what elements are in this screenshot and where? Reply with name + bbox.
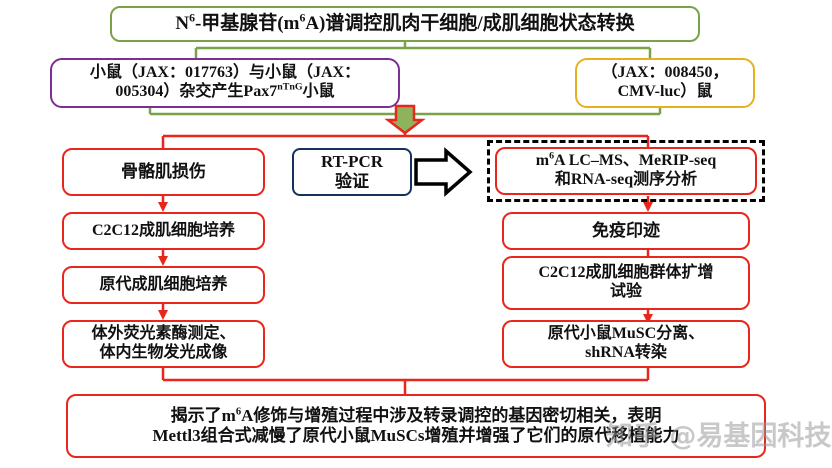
primary-myoblast-culture-text: 原代成肌细胞培养 bbox=[64, 276, 263, 295]
rt-pcr-text: RT-PCR 验证 bbox=[294, 152, 410, 192]
convergence-connector bbox=[163, 368, 648, 394]
skeletal-muscle-injury-box: 骨骼肌损伤 bbox=[62, 148, 265, 196]
rt-pcr-box: RT-PCR 验证 bbox=[292, 148, 412, 196]
conclusion-box: 揭示了m6A修饰与增殖过程中涉及转录调控的基因密切相关，表明 Mettl3组合式… bbox=[66, 394, 766, 458]
cmv-luc-text: （JAX：008450， CMV-luc）鼠 bbox=[577, 64, 753, 102]
skeletal-muscle-injury-text: 骨骼肌损伤 bbox=[64, 162, 263, 182]
pax7-superscript: nTnG bbox=[277, 82, 302, 93]
primary-myoblast-culture-box: 原代成肌细胞培养 bbox=[62, 266, 265, 304]
sequencing-analysis-box: m6A LC–MS、MeRIP-seq 和RNA-seq测序分析 bbox=[495, 147, 757, 195]
title-text: N6-甲基腺苷(m6A)谱调控肌肉干细胞/成肌细胞状态转换 bbox=[112, 13, 698, 35]
flowchart-canvas: N6-甲基腺苷(m6A)谱调控肌肉干细胞/成肌细胞状态转换 小鼠（JAX：017… bbox=[0, 0, 832, 468]
western-blot-box: 免疫印迹 bbox=[502, 212, 750, 250]
musc-isolation-box: 原代小鼠MuSC分离、 shRNA转染 bbox=[502, 320, 750, 368]
cmv-luc-box: （JAX：008450， CMV-luc）鼠 bbox=[575, 58, 755, 108]
c2c12-culture-box: C2C12成肌细胞培养 bbox=[62, 212, 265, 250]
sequencing-analysis-text: m6A LC–MS、MeRIP-seq 和RNA-seq测序分析 bbox=[497, 152, 755, 190]
c2c12-expansion-text: C2C12成肌细胞群体扩增 试验 bbox=[504, 264, 748, 302]
musc-isolation-text: 原代小鼠MuSC分离、 shRNA转染 bbox=[504, 325, 748, 363]
c2c12-culture-text: C2C12成肌细胞培养 bbox=[64, 222, 263, 241]
c2c12-expansion-box: C2C12成肌细胞群体扩增 试验 bbox=[502, 256, 750, 310]
luciferase-imaging-box: 体外荧光素酶测定、 体内生物发光成像 bbox=[62, 320, 265, 368]
mouse-cross-box: 小鼠（JAX：017763）与小鼠（JAX： 005304）杂交产生Pax7nT… bbox=[50, 58, 400, 108]
conclusion-text: 揭示了m6A修饰与增殖过程中涉及转录调控的基因密切相关，表明 Mettl3组合式… bbox=[68, 406, 764, 446]
title-box: N6-甲基腺苷(m6A)谱调控肌肉干细胞/成肌细胞状态转换 bbox=[110, 6, 700, 42]
mouse-cross-text: 小鼠（JAX：017763）与小鼠（JAX： 005304）杂交产生Pax7nT… bbox=[52, 64, 398, 102]
luciferase-imaging-text: 体外荧光素酶测定、 体内生物发光成像 bbox=[64, 325, 263, 363]
western-blot-text: 免疫印迹 bbox=[504, 221, 748, 241]
